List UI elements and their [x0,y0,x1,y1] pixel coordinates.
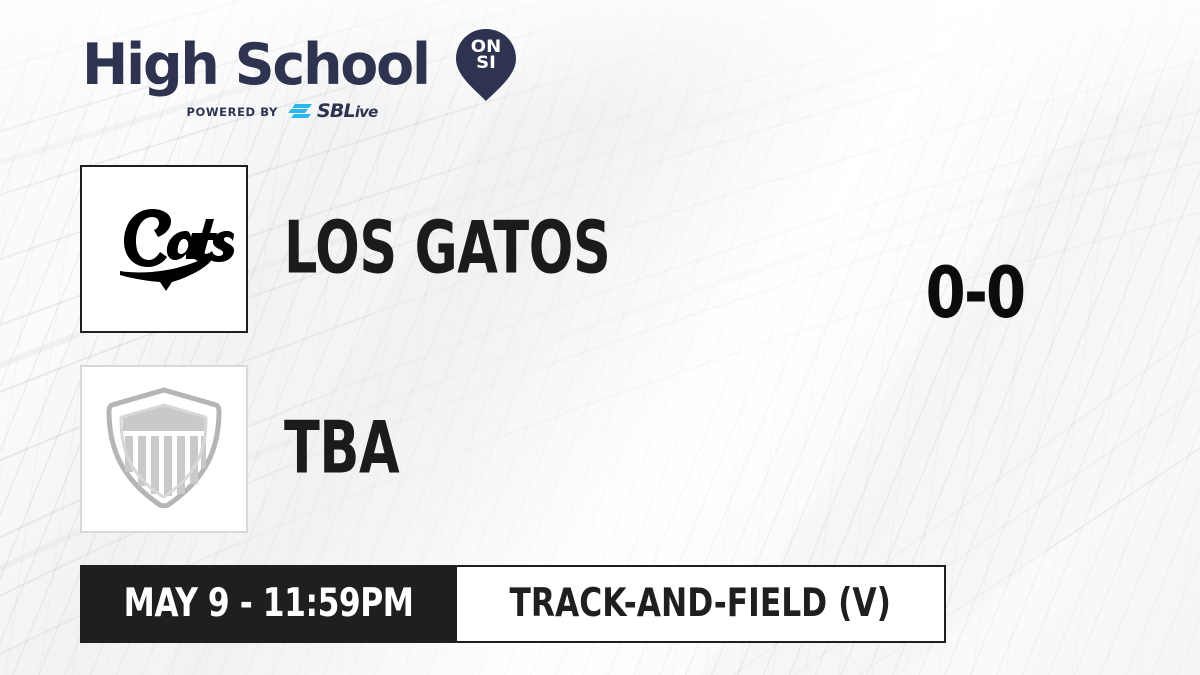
team-row-away: TBA [80,365,424,533]
team-logo-box-away [80,365,248,533]
brand-lockup: High School ON SI POWERED BY SBLive [82,34,512,122]
event-info-bar: MAY 9 - 11:59PM TRACK-AND-FIELD (V) [80,565,946,643]
score-display: 0-0 [908,254,1043,333]
team-row-home: LOS GATOS [80,165,682,333]
powered-by-row: POWERED BY SBLive [82,102,482,122]
onsi-pin-line2: SI [452,55,520,71]
brand-title-row: High School ON SI [82,34,512,96]
event-sport-block: TRACK-AND-FIELD (V) [457,565,945,643]
onsi-pin-text: ON SI [454,39,518,71]
cats-script-logo [94,179,234,319]
sblive-s-mark-icon [287,103,313,122]
onsi-pin-icon: ON SI [454,27,518,103]
sblive-wordmark-suffix: ive [355,103,378,121]
shield-placeholder-icon [106,387,222,511]
sblive-wordmark: SBLive [317,102,378,122]
powered-by-label: POWERED BY [186,105,277,119]
sblive-wordmark-main: SBL [317,100,355,122]
event-datetime-block: MAY 9 - 11:59PM [80,565,457,643]
event-sport-text: TRACK-AND-FIELD (V) [510,584,891,624]
matchup-graphic: High School ON SI POWERED BY SBLive [0,0,1200,675]
team-name-away: TBA [284,413,399,485]
team-logo-box-home [80,165,248,333]
team-name-home: LOS GATOS [284,213,610,285]
event-datetime-text: MAY 9 - 11:59PM [124,584,414,624]
high-school-wordmark: High School [82,36,429,94]
